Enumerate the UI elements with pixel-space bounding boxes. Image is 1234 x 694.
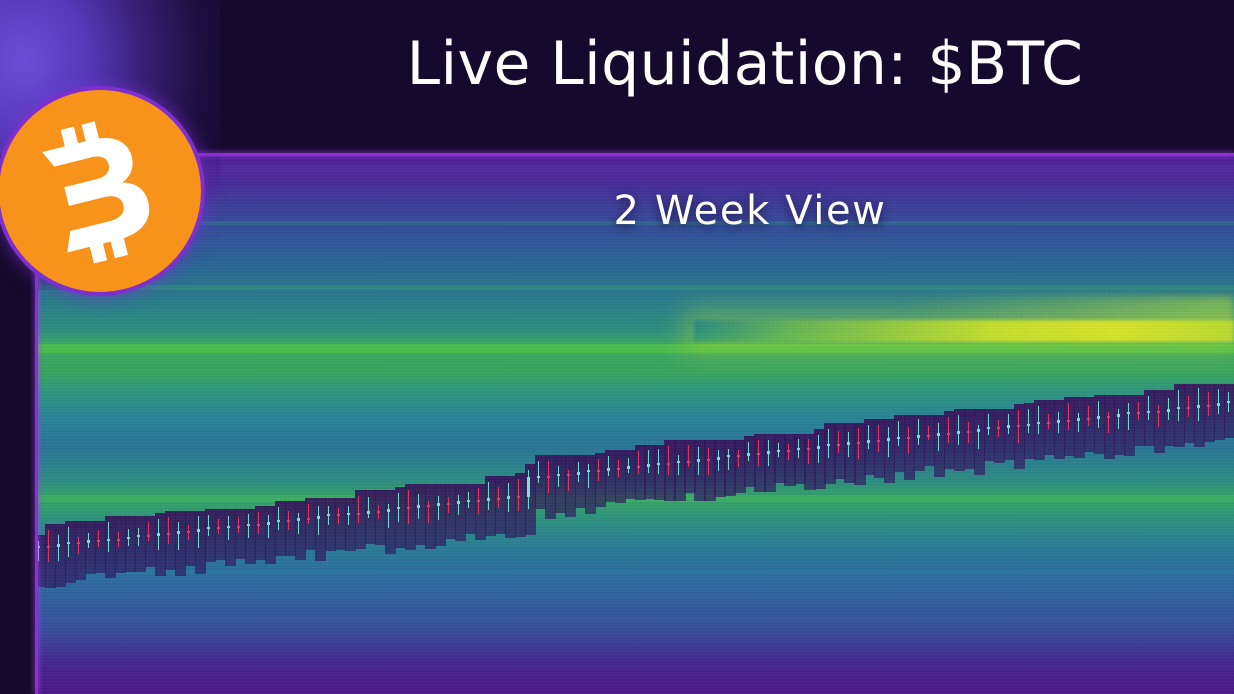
candle-wick [538,461,539,482]
candlestick [717,450,720,471]
candle-wick [178,522,179,551]
page-title: Live Liquidation: $BTC [300,26,1190,102]
candle-wick [938,423,939,451]
candle-body [227,526,230,529]
candlestick [1037,406,1040,435]
candle-wick [1028,409,1029,433]
candle-wick [738,450,739,468]
candle-body [887,438,890,441]
candle-body [637,466,640,468]
candle-body [1087,418,1090,420]
candle-body [1047,422,1050,424]
candlestick [797,439,800,458]
candlestick [237,517,240,533]
candle-body [547,476,550,478]
candle-wick [358,496,359,523]
candle-body [557,474,560,477]
candle-wick [678,455,679,475]
candle-wick [388,504,389,528]
candlestick [1057,412,1060,433]
candle-body [517,496,520,498]
candle-body [707,459,710,461]
candle-body [1197,405,1200,408]
candle-body [777,450,780,452]
candlestick [907,427,910,454]
candlestick [277,507,280,531]
candle-body [1097,416,1100,419]
candlestick [1107,412,1110,433]
candle-wick [298,513,299,535]
candle-wick [878,425,879,452]
candle-body [957,431,960,434]
candle-body [727,455,730,457]
candlestick [887,427,890,457]
candlestick [1197,388,1200,420]
candle-wick [1178,390,1179,421]
candle-wick [708,448,709,475]
candlestick [967,422,970,443]
candle-body [1167,409,1170,412]
candlestick [337,508,340,524]
candle-body [417,505,420,508]
candle-wick [268,515,269,538]
candle-body [287,520,290,522]
candle-body [317,516,320,519]
candlestick [1207,392,1210,417]
candlestick [1047,414,1050,428]
candle-body [667,463,670,465]
candle-body [347,513,350,516]
candle-body [477,500,480,502]
candlestick [657,449,660,474]
candle-body [437,503,440,506]
candle-body [657,463,660,465]
candle-wick [588,464,589,488]
candle-body [367,511,370,514]
candlestick [857,428,860,459]
candlestick [667,446,670,475]
candle-body [457,501,460,504]
candle-body [627,466,630,469]
candlestick [677,455,680,475]
candle-body [277,520,280,522]
candle-wick [648,450,649,472]
candle-wick [748,442,749,461]
candle-wick [148,522,149,541]
candlestick [577,462,580,482]
candle-body [1107,416,1110,418]
candlestick [317,506,320,535]
candlestick [1227,392,1230,412]
candle-wick [58,535,59,561]
candle-wick [1148,396,1149,419]
candle-body [1077,418,1080,421]
candle-body [407,507,410,509]
candlestick [487,482,490,510]
candle-body [107,539,110,542]
candle-body [1187,407,1190,409]
candlestick [1117,409,1120,430]
candle-body [1057,420,1060,423]
candlestick [1127,403,1130,430]
chart-subtitle: 2 Week View [350,185,1150,237]
liquidation-chart-screen: Live Liquidation: $BTC 2 Week View [0,0,1234,694]
candlestick [1167,398,1170,420]
candle-body [807,448,810,450]
candle-body [167,533,170,535]
candlestick [617,460,620,477]
candlestick [507,483,510,512]
candlestick [827,429,830,458]
candlestick [767,440,770,466]
candle-wick [258,512,259,534]
candle-body [137,535,140,537]
candlestick [647,450,650,472]
candle-wick [98,530,99,547]
candlestick [327,506,330,525]
candlestick [107,522,110,552]
candle-body [427,505,430,507]
candle-wick [438,496,439,520]
candlestick [217,519,220,534]
candle-wick [278,507,279,531]
candle-body [197,529,200,532]
candlestick [627,458,630,473]
candle-wick [928,426,929,441]
candlestick [467,492,470,508]
candle-body [607,468,610,471]
candlestick [527,470,530,509]
candle-wick [1068,403,1069,430]
candle-body [307,518,310,520]
candle-wick [898,421,899,447]
candle-wick [978,425,979,449]
candle-body [177,531,180,534]
candle-body [817,446,820,449]
candlestick [377,505,380,519]
candlestick [1007,414,1010,434]
candlestick [427,501,430,523]
candlestick [1027,409,1030,433]
candle-body [357,513,360,515]
candle-body [1207,405,1210,407]
candlestick [1017,410,1020,442]
candlestick [147,522,150,541]
candle-body [577,472,580,475]
candle-body [937,433,940,436]
candle-body [617,468,620,470]
candle-body [297,518,300,521]
candle-body [387,509,390,512]
candle-body [867,440,870,443]
candlestick [407,490,410,524]
candle-wick [488,482,489,510]
candle-body [447,503,450,505]
candlestick [547,461,550,493]
candlestick [877,425,880,452]
candlestick [747,442,750,461]
candle-wick [1118,409,1119,430]
candlestick [847,432,850,456]
candle-wick [318,506,319,535]
candle-wick [308,504,309,524]
candlestick [1087,406,1090,426]
candle-wick [208,515,209,537]
candle-body [987,427,990,429]
candle-body [647,464,650,467]
candle-body [907,437,910,439]
candle-body [57,544,60,547]
candlestick [297,513,300,535]
candlestick [1097,401,1100,428]
candlestick [737,450,740,468]
candle-wick [1108,412,1109,433]
candle-body [767,451,770,454]
candle-wick [168,517,169,544]
candle-body [237,526,240,528]
candle-body [507,496,510,499]
candle-body [1217,403,1220,406]
candle-body [787,450,790,452]
candle-wick [948,417,949,443]
candle-body [597,470,600,472]
candlestick [637,451,640,474]
candlestick [457,495,460,515]
candle-wick [38,541,39,560]
candle-body [917,435,920,438]
candle-body [1007,425,1010,428]
candle-wick [198,516,199,548]
candle-body [257,524,260,526]
candle-body [837,444,840,446]
candlestick [727,449,730,470]
candle-wick [1158,405,1159,427]
candle-body [1177,407,1180,409]
candlestick [707,448,710,475]
candle-wick [718,450,719,471]
candle-wick [1078,413,1079,432]
candlestick [897,421,900,447]
candlestick [387,504,390,528]
candlestick [927,426,930,441]
candle-wick [338,508,339,524]
candle-body [847,442,850,445]
candle-body [47,546,50,548]
candle-wick [788,444,789,459]
candlestick [987,414,990,435]
candlestick [1217,389,1220,414]
candlestick [117,532,120,547]
bitcoin-icon [0,86,205,296]
candlestick [57,535,60,561]
candle-wick [1088,406,1089,426]
candlestick [607,456,610,477]
candlestick [477,488,480,513]
candle-body [717,457,720,460]
candlestick [557,466,560,487]
candlestick [1067,403,1070,430]
candlestick [437,496,440,520]
candlestick [87,533,90,548]
candlestick [1187,396,1190,416]
candlestick [447,497,450,512]
candle-body [87,540,90,543]
candle-body [897,437,900,439]
candle-body [1117,414,1120,417]
candlestick [787,444,790,459]
candlestick [567,470,570,491]
candle-wick [1038,406,1039,435]
candlestick [227,516,230,540]
candlestick [757,440,760,466]
candlestick [497,487,500,508]
candlestick [1137,402,1140,420]
candlestick [687,445,690,467]
candlestick [67,527,70,556]
candle-body [117,539,120,541]
candlestick [177,522,180,551]
candlestick [137,528,140,546]
candlestick [267,515,270,538]
candlestick [157,519,160,549]
candle-body [467,500,470,502]
candle-body [927,435,930,437]
candle-wick [908,427,909,454]
candlestick [777,443,780,457]
candle-wick [368,497,369,518]
candle-body [567,474,570,476]
candle-body [497,498,500,500]
candle-body [1027,424,1030,427]
candlestick [97,530,100,547]
candle-body [377,511,380,513]
candle-body [687,461,690,463]
candlestick [947,417,950,443]
candle-body [1067,420,1070,422]
candle-wick [458,495,459,515]
candlestick [837,431,840,453]
candle-wick [818,435,819,464]
candlestick [937,423,940,451]
candlestick [187,525,190,540]
candlestick [1147,396,1150,419]
candle-wick [218,519,219,534]
candle-wick [568,470,569,491]
candle-wick [1098,401,1099,428]
candle-body [977,429,980,432]
candle-body [1037,422,1040,424]
candlestick [357,496,360,523]
candlestick [997,420,1000,436]
candlestick [257,512,260,534]
candle-wick [638,451,639,474]
candle-body [757,453,760,455]
candle-wick [988,414,989,435]
candle-body [397,507,400,509]
candle-body [947,433,950,435]
candlestick [287,511,290,530]
candle-body [267,522,270,525]
candle-wick [1128,403,1129,430]
candle-wick [348,506,349,525]
candle-body [737,455,740,457]
candle-wick [868,425,869,449]
candle-body [1147,411,1150,414]
candlestick [1077,413,1080,432]
candlestick [597,459,600,481]
candlestick [347,506,350,525]
candle-wick [838,431,839,453]
candle-wick [608,456,609,477]
candle-body [857,442,860,444]
candlestick [957,415,960,446]
candle-wick [1208,392,1209,417]
candle-wick [1138,402,1139,420]
candle-body [147,535,150,537]
candle-wick [668,446,669,475]
header-divider [35,153,1234,156]
candle-wick [808,439,809,464]
candlestick [807,439,810,464]
candlestick [417,494,420,519]
candle-body [747,453,750,456]
candle-body [487,498,490,501]
candlestick [47,530,50,562]
candlestick [587,464,590,488]
candle-wick [108,522,109,552]
candlestick [1177,390,1180,421]
candlestick [517,479,520,511]
candlestick [697,447,700,475]
candle-body [697,459,700,462]
candle-wick [1008,414,1009,434]
candle-body [997,427,1000,429]
candle-wick [248,514,249,537]
candlestick [977,425,980,449]
candle-body [527,477,530,496]
candle-body [1157,411,1160,413]
candle-wick [958,415,959,446]
candle-wick [888,427,889,457]
candlestick [307,504,310,524]
candlestick [167,517,170,544]
candlestick [77,537,80,554]
candle-wick [1218,389,1219,414]
candlestick [397,493,400,522]
candle-wick [558,466,559,487]
candle-body [587,470,590,472]
candlestick [917,419,920,445]
candle-body [967,431,970,433]
candle-body [877,440,880,442]
candlestick [127,529,130,546]
candlestick [537,461,540,482]
candle-body [67,542,70,544]
candle-wick [658,449,659,474]
candlestick [367,497,370,518]
candle-body [157,533,160,536]
candlestick [197,516,200,548]
candlestick [207,515,210,537]
candlestick [817,435,820,464]
candle-wick [518,479,519,511]
candle-wick [688,445,689,467]
candle-wick [78,537,79,554]
candlestick [1157,405,1160,427]
candle-wick [728,449,729,470]
candle-body [827,444,830,446]
candlestick [867,425,870,449]
